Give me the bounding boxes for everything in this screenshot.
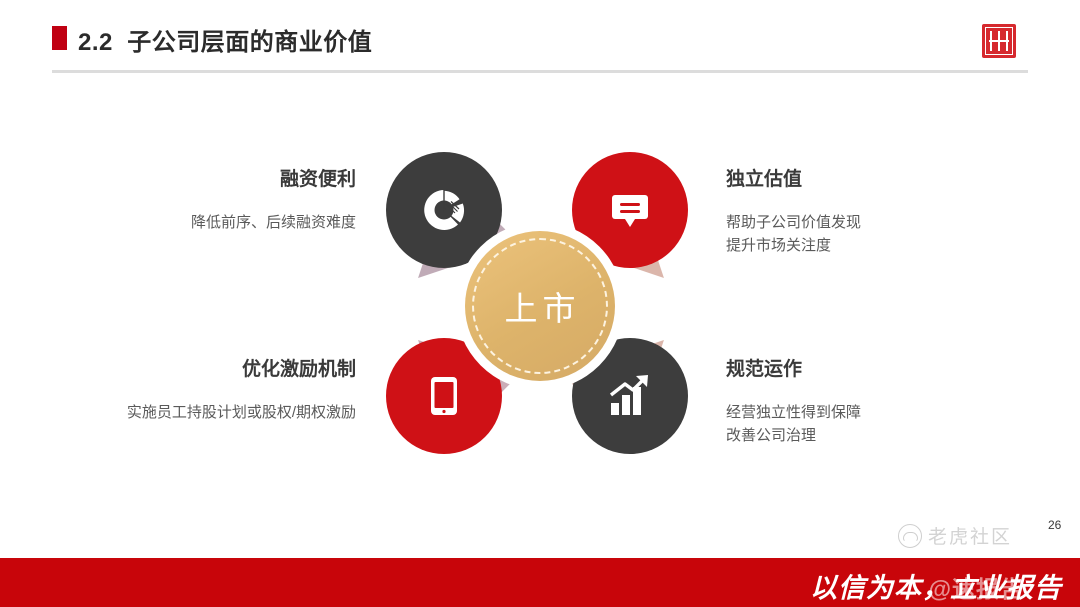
pie-chart-icon	[416, 182, 472, 238]
slide-canvas: 2.2 子公司层面的商业价值	[0, 0, 1080, 607]
label-desc-incentive: 实施员工持股计划或股权/期权激励	[20, 401, 356, 424]
center-node[interactable]: 上市	[456, 222, 624, 390]
label-top-left: 融资便利 降低前序、后续融资难度	[20, 168, 356, 234]
label-desc-governance: 经营独立性得到保障 改善公司治理	[726, 401, 1056, 448]
value-diagram: 上市	[360, 140, 720, 480]
label-title-governance: 规范运作	[726, 358, 1056, 383]
page-title: 2.2 子公司层面的商业价值	[78, 22, 372, 57]
page-number: 26	[1048, 518, 1061, 532]
title-label: 子公司层面的商业价值	[127, 29, 372, 56]
growth-bar-chart-icon	[603, 371, 657, 421]
title-bullet-square	[52, 26, 67, 50]
section-number: 2.2	[78, 29, 113, 56]
label-title-valuation: 独立估值	[726, 168, 1056, 193]
label-title-incentive: 优化激励机制	[20, 358, 356, 383]
tiger-circle-logo-icon	[898, 524, 922, 548]
slide-footer: 以信为本，立业报告 @速报告	[0, 558, 1080, 607]
label-desc-valuation-line2: 提升市场关注度	[726, 234, 1056, 257]
community-watermark: 老虎社区	[898, 522, 1012, 549]
center-label: 上市	[500, 282, 581, 330]
label-top-right: 独立估值 帮助子公司价值发现 提升市场关注度	[726, 168, 1056, 257]
label-desc-governance-line2: 改善公司治理	[726, 424, 1056, 447]
label-title-financing: 融资便利	[20, 168, 356, 193]
slide-header: 2.2 子公司层面的商业价值	[0, 0, 1080, 72]
label-desc-governance-line1: 经营独立性得到保障	[726, 401, 1056, 424]
label-desc-valuation-line1: 帮助子公司价值发现	[726, 211, 1056, 234]
tablet-device-icon	[421, 371, 467, 421]
corporate-seal-icon	[982, 24, 1016, 58]
speech-bubble-icon	[605, 185, 655, 235]
label-bottom-left: 优化激励机制 实施员工持股计划或股权/期权激励	[20, 358, 356, 424]
label-desc-financing: 降低前序、后续融资难度	[20, 211, 356, 234]
watermark-label: 老虎社区	[928, 522, 1012, 549]
label-desc-valuation: 帮助子公司价值发现 提升市场关注度	[726, 211, 1056, 258]
header-divider	[52, 70, 1028, 73]
footer-watermark: @速报告	[929, 570, 1024, 604]
label-bottom-right: 规范运作 经营独立性得到保障 改善公司治理	[726, 358, 1056, 447]
